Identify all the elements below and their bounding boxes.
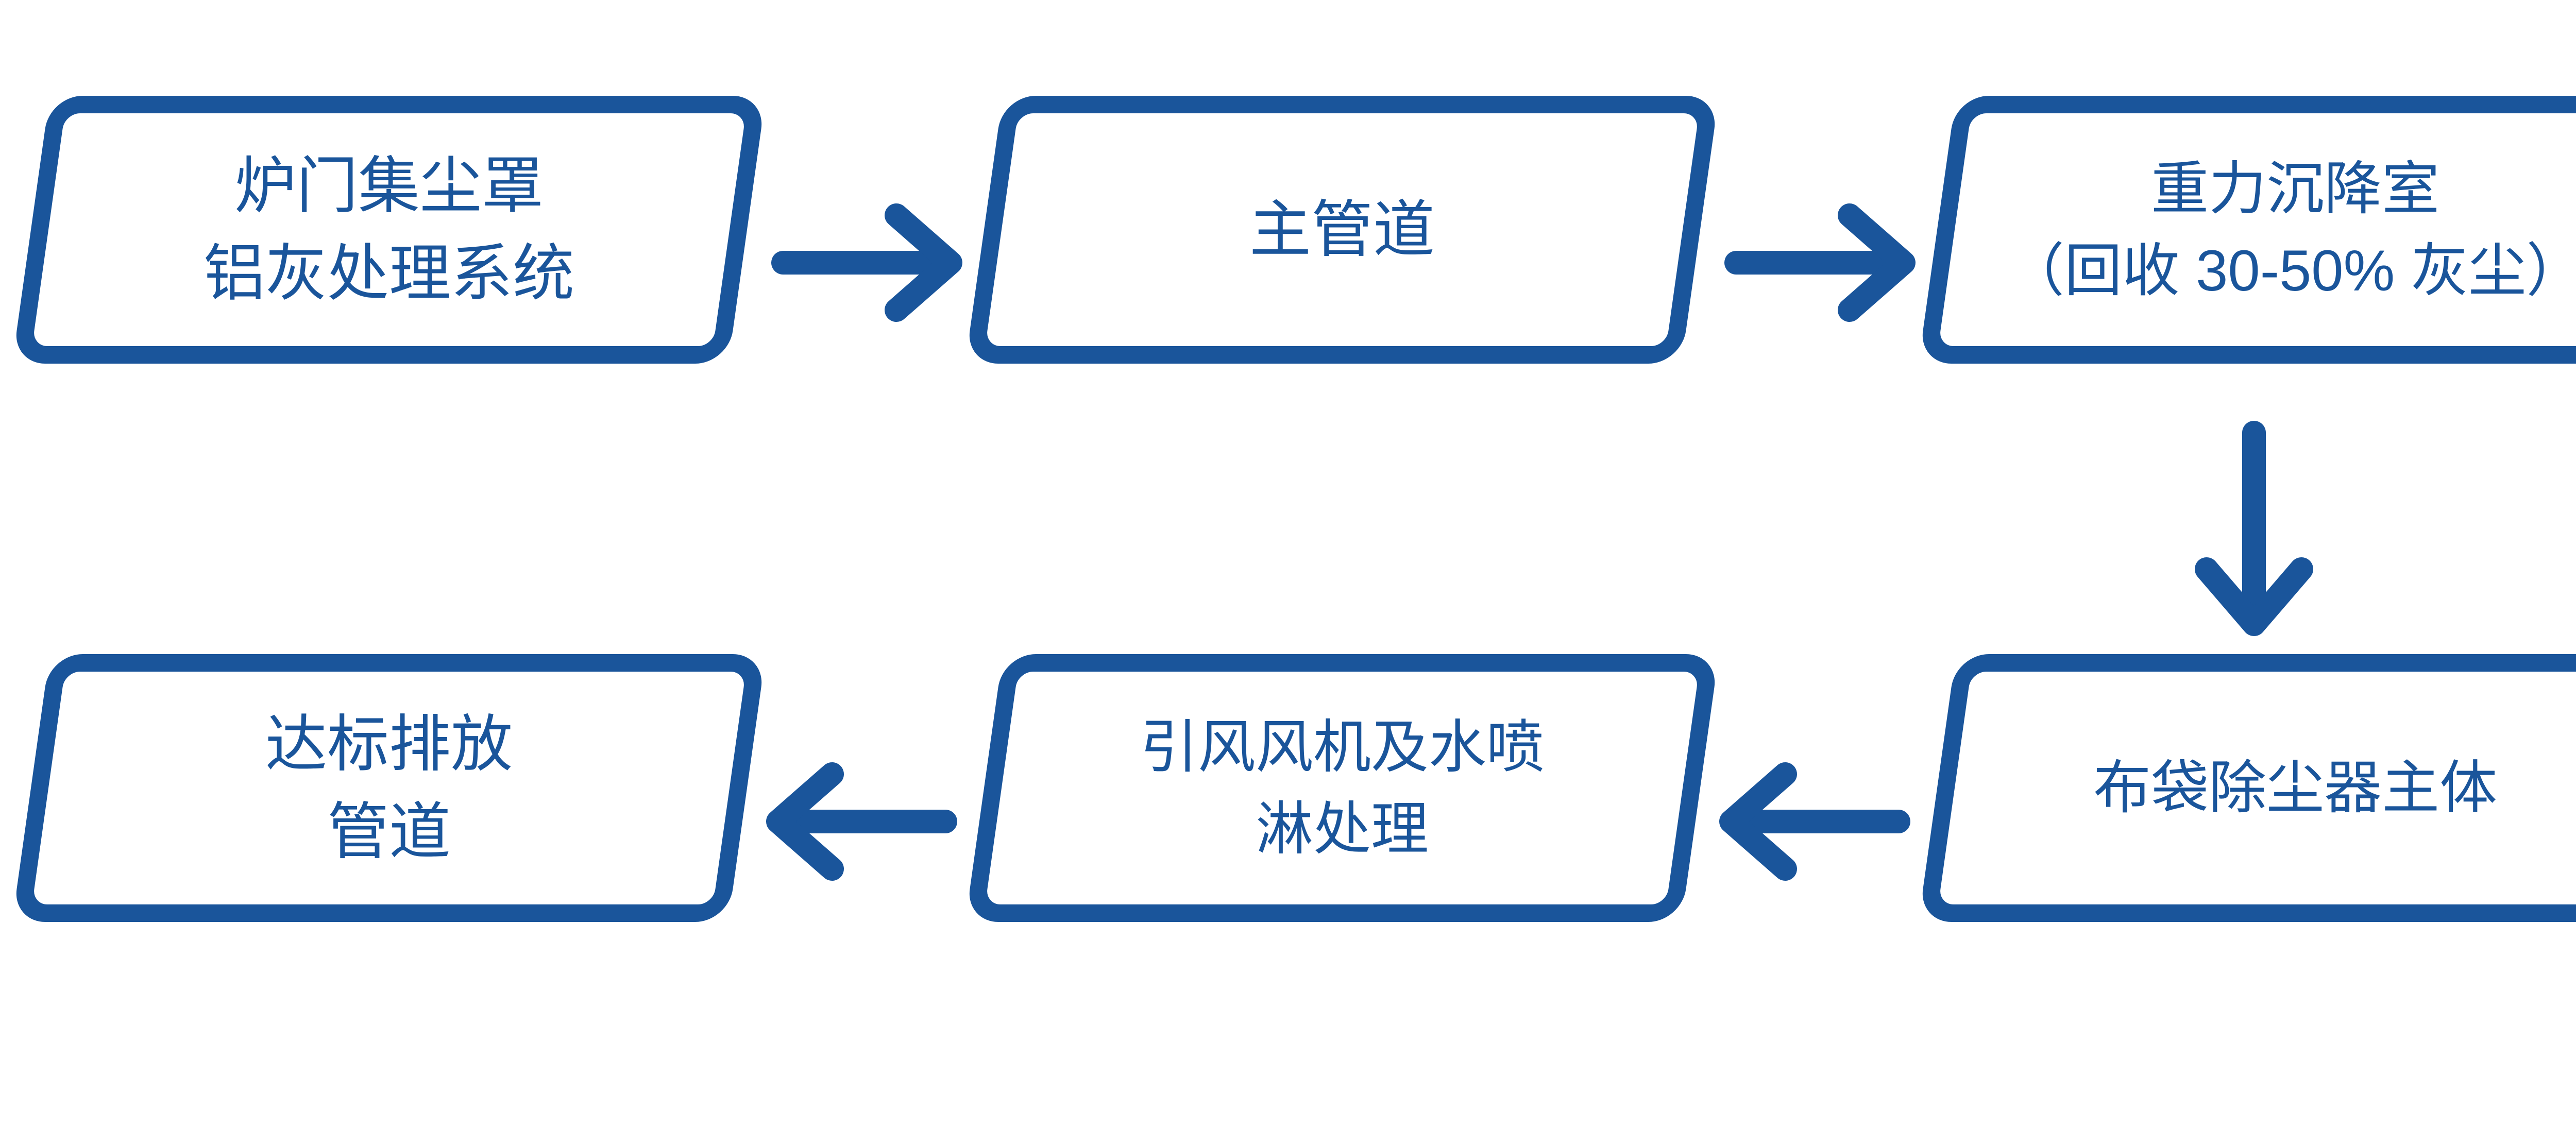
node-label-group: 达标排放 管道 [265, 700, 513, 876]
node-baghouse-dust-collector-body[interactable]: 布袋除尘器主体 [1918, 654, 2576, 922]
connector-gravity-to-baghouse [2207, 433, 2301, 624]
node-label-line-1: 主管道 [1249, 186, 1435, 273]
node-main-duct[interactable]: 主管道 [965, 96, 1719, 364]
node-furnace-door-hood[interactable]: 炉门集尘罩 铝灰处理系统 [12, 96, 766, 364]
node-label-group: 炉门集尘罩 铝灰处理系统 [204, 142, 574, 318]
connector-fan-to-exhaust [778, 774, 945, 869]
node-induced-draft-fan-water-spray[interactable]: 引风风机及水喷 淋处理 [965, 654, 1719, 922]
node-label-line-1: 达标排放 [265, 700, 513, 788]
node-label-line-1: 布袋除尘器主体 [2093, 747, 2497, 829]
flowchart-canvas: 炉门集尘罩 铝灰处理系统 主管道 重力沉降室 （回收 30-50% 灰尘） 集尘… [0, 0, 2576, 1129]
node-label-line-2: 铝灰处理系统 [204, 230, 574, 317]
node-label-group: 布袋除尘器主体 [2093, 747, 2497, 829]
node-label-line-1: 引风风机及水喷 [1140, 706, 1544, 788]
node-compliant-exhaust-duct[interactable]: 达标排放 管道 [12, 654, 766, 922]
node-label-group: 重力沉降室 （回收 30-50% 灰尘） [2007, 148, 2576, 312]
node-label-line-1: 重力沉降室 [2151, 148, 2439, 230]
node-label-line-2: （回收 30-50% 灰尘） [2007, 230, 2576, 312]
connector-main-duct-to-gravity [1736, 215, 1904, 310]
node-gravity-settling-chamber[interactable]: 重力沉降室 （回收 30-50% 灰尘） [1918, 96, 2576, 364]
node-label-line-2: 淋处理 [1256, 788, 1429, 870]
connector-hood-to-main-duct [783, 215, 951, 310]
node-label-line-2: 管道 [327, 788, 451, 876]
node-label-line-1: 炉门集尘罩 [234, 142, 544, 230]
node-label-group: 主管道 [1249, 186, 1435, 273]
node-label-group: 引风风机及水喷 淋处理 [1140, 706, 1544, 870]
connector-baghouse-to-fan [1731, 774, 1899, 869]
